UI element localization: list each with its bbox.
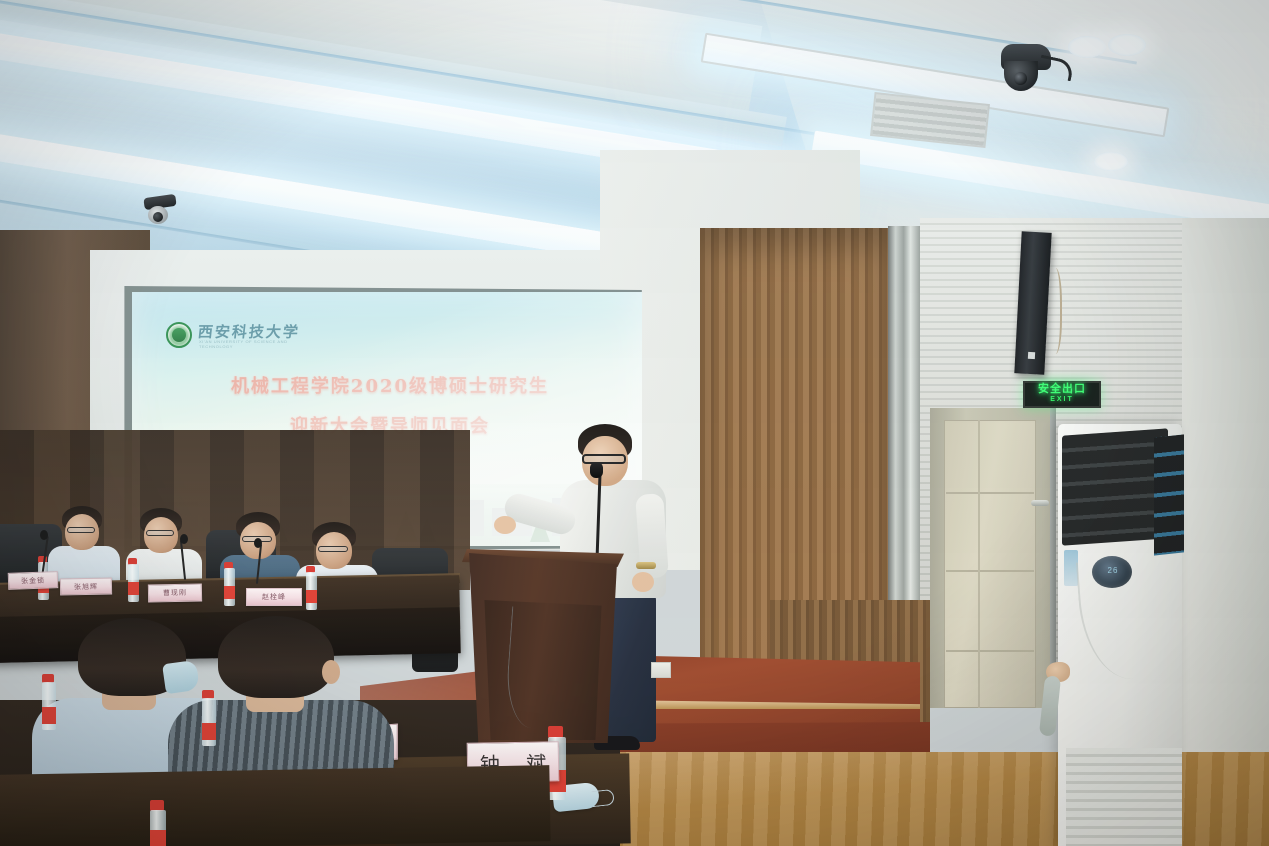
water-bottle bbox=[42, 674, 56, 730]
door-panel-line bbox=[946, 650, 1034, 652]
speaker-badge bbox=[1028, 352, 1035, 359]
water-bottle bbox=[306, 566, 317, 610]
exit-door[interactable] bbox=[944, 420, 1036, 708]
panel-nameplate: 张旭辉 bbox=[60, 578, 112, 596]
recessed-downlight bbox=[1068, 36, 1106, 58]
university-emblem-icon bbox=[166, 322, 192, 348]
university-logo: 西安科技大学 XI'AN UNIVERSITY OF SCIENCE AND T… bbox=[166, 320, 306, 350]
bullet-camera-icon bbox=[140, 196, 182, 234]
water-bottle bbox=[150, 800, 166, 846]
exit-sign-chinese: 安全出口 bbox=[1038, 384, 1086, 395]
door-panel-line bbox=[978, 420, 980, 708]
microphone-capsule bbox=[40, 530, 48, 540]
wall-power-socket[interactable] bbox=[651, 662, 671, 678]
conference-hall-photo: 安全出口 EXIT 西安科技大学 XI'AN UNIVERSITY OF SCI… bbox=[0, 0, 1269, 846]
microphone-capsule bbox=[180, 534, 188, 544]
panel-nameplate: 曹现刚 bbox=[148, 584, 202, 603]
recessed-downlight bbox=[1094, 152, 1128, 171]
panel-nameplate: 张金锁 bbox=[8, 571, 59, 590]
recessed-downlight bbox=[1108, 34, 1146, 56]
ac-side-vent bbox=[1154, 434, 1184, 555]
ac-louver-grille bbox=[1062, 428, 1168, 545]
door-panel-line bbox=[946, 570, 1034, 572]
university-name-en: XI'AN UNIVERSITY OF SCIENCE AND TECHNOLO… bbox=[199, 339, 306, 349]
emergency-exit-sign: 安全出口 EXIT bbox=[1023, 381, 1101, 408]
panel-nameplate: 赵栓峰 bbox=[246, 588, 302, 606]
water-bottle bbox=[224, 562, 235, 606]
door-panel-line bbox=[946, 492, 1034, 494]
microphone-cable bbox=[504, 606, 566, 729]
front-table-edge bbox=[0, 765, 551, 846]
speaker-cable bbox=[1046, 268, 1062, 354]
water-bottle bbox=[128, 558, 139, 602]
title-line-1: 机械工程学院2020级博硕士研究生 bbox=[195, 378, 585, 396]
ptz-dome-camera-icon bbox=[995, 44, 1057, 96]
door-handle[interactable] bbox=[1031, 500, 1049, 506]
microphone-capsule bbox=[254, 538, 262, 548]
microphone-capsule bbox=[590, 462, 603, 478]
ac-bottom-grille bbox=[1066, 748, 1182, 846]
exit-sign-english: EXIT bbox=[1050, 395, 1074, 404]
water-bottle bbox=[202, 690, 216, 746]
